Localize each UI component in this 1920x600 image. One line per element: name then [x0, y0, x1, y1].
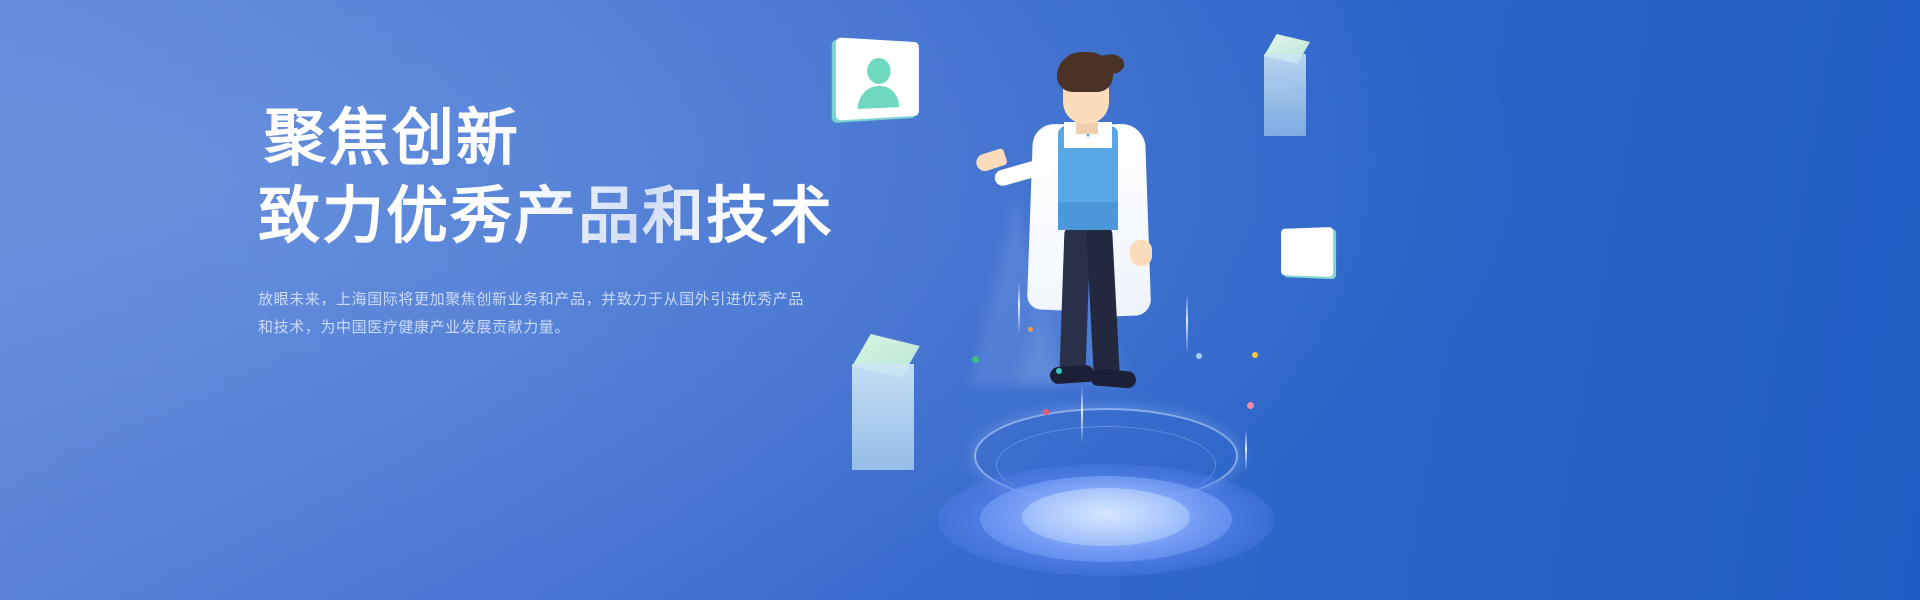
avatar-head-icon — [867, 58, 890, 85]
hero-illustration — [830, 0, 1390, 600]
streak-left — [1018, 282, 1020, 334]
hair-tuft — [1096, 52, 1126, 77]
streak-mid — [1081, 386, 1083, 444]
dot-pink — [1247, 402, 1254, 409]
hand-on-hip — [1130, 240, 1152, 266]
pillar-front-face — [1264, 54, 1306, 136]
trouser-left — [1059, 228, 1090, 375]
dot-teal — [1056, 368, 1062, 374]
holographic-platform — [938, 450, 1274, 578]
shoe-right — [1091, 368, 1136, 389]
shirt-lower — [1058, 202, 1118, 230]
bar-chart-pillar-right — [1262, 38, 1314, 138]
floating-card-icon — [1281, 227, 1333, 277]
hero-banner: 聚焦创新 致力优秀产品和技术 放眼未来，上海国际将更加聚焦创新业务和产品，并致力… — [0, 0, 1920, 600]
dot-lightblue — [1196, 353, 1202, 359]
avatar-body-icon — [858, 86, 899, 109]
page-title: 聚焦创新 致力优秀产品和技术 — [258, 104, 898, 252]
shoe-left — [1049, 364, 1094, 384]
dot-green — [972, 356, 979, 363]
subtitle-line-2: 和技术，为中国医疗健康产业发展贡献力量。 — [258, 314, 858, 342]
dot-red — [1043, 409, 1049, 415]
banner-text-block: 聚焦创新 致力优秀产品和技术 放眼未来，上海国际将更加聚焦创新业务和产品，并致力… — [258, 104, 898, 342]
user-profile-card-icon — [836, 37, 919, 120]
headline-line-1: 聚焦创新 — [264, 104, 898, 174]
platform-disc-inner — [1022, 488, 1190, 546]
headline-line-2: 致力优秀产品和技术 — [258, 182, 898, 252]
subtitle-line-1: 放眼未来，上海国际将更加聚焦创新业务和产品，并致力于从国外引进优秀产品 — [258, 286, 858, 314]
doctor-character — [980, 52, 1190, 442]
banner-subtitle: 放眼未来，上海国际将更加聚焦创新业务和产品，并致力于从国外引进优秀产品 和技术，… — [258, 286, 858, 342]
streak-far-right — [1245, 430, 1247, 472]
dot-yellow — [1252, 352, 1258, 358]
streak-right — [1186, 294, 1188, 354]
bar-chart-pillar-left — [850, 340, 922, 470]
dot-orange — [1028, 327, 1033, 332]
pillar-front-face — [852, 364, 914, 470]
